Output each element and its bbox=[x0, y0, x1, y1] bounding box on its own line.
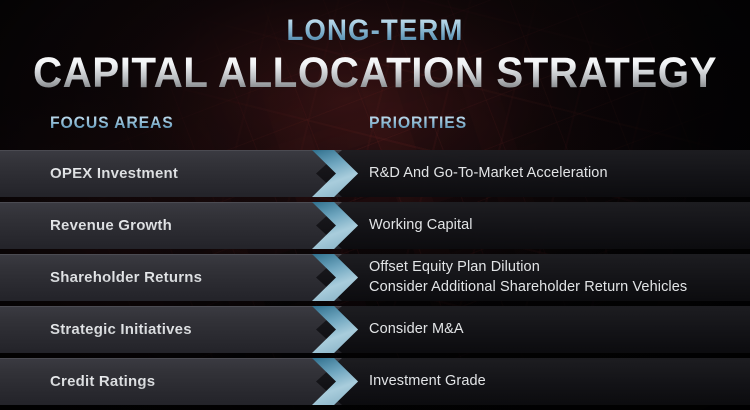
table-row: Credit RatingsInvestment Grade bbox=[0, 358, 750, 405]
priority-cell: Working Capital bbox=[369, 202, 734, 249]
focus-area-label: Revenue Growth bbox=[50, 202, 172, 249]
priority-line: Investment Grade bbox=[369, 372, 734, 391]
slide-kicker: LONG-TERM bbox=[30, 16, 720, 46]
table-row: Strategic InitiativesConsider M&A bbox=[0, 306, 750, 353]
priority-line: R&D And Go-To-Market Acceleration bbox=[369, 164, 734, 183]
slide-title: CAPITAL ALLOCATION STRATEGY bbox=[23, 50, 728, 96]
focus-area-label: Credit Ratings bbox=[50, 358, 155, 405]
priority-line: Consider Additional Shareholder Return V… bbox=[369, 278, 734, 297]
priority-cell: Consider M&A bbox=[369, 306, 734, 353]
title-block: LONG-TERM CAPITAL ALLOCATION STRATEGY bbox=[0, 16, 750, 96]
strategy-rows: OPEX InvestmentR&D And Go-To-Market Acce… bbox=[0, 150, 750, 410]
column-headers: FOCUS AREAS PRIORITIES bbox=[0, 113, 750, 143]
focus-area-label: Strategic Initiatives bbox=[50, 306, 192, 353]
table-row: OPEX InvestmentR&D And Go-To-Market Acce… bbox=[0, 150, 750, 197]
focus-area-label: OPEX Investment bbox=[50, 150, 178, 197]
priority-cell: Offset Equity Plan DilutionConsider Addi… bbox=[369, 254, 734, 301]
focus-area-label: Shareholder Returns bbox=[50, 254, 202, 301]
priority-line: Consider M&A bbox=[369, 320, 734, 339]
column-header-priorities: PRIORITIES bbox=[369, 113, 467, 133]
priority-line: Working Capital bbox=[369, 216, 734, 235]
slide-canvas: LONG-TERM CAPITAL ALLOCATION STRATEGY FO… bbox=[0, 0, 750, 410]
priority-line: Offset Equity Plan Dilution bbox=[369, 258, 734, 277]
priority-cell: Investment Grade bbox=[369, 358, 734, 405]
column-header-focus-areas: FOCUS AREAS bbox=[50, 113, 174, 133]
table-row: Revenue GrowthWorking Capital bbox=[0, 202, 750, 249]
table-row: Shareholder ReturnsOffset Equity Plan Di… bbox=[0, 254, 750, 301]
priority-cell: R&D And Go-To-Market Acceleration bbox=[369, 150, 734, 197]
